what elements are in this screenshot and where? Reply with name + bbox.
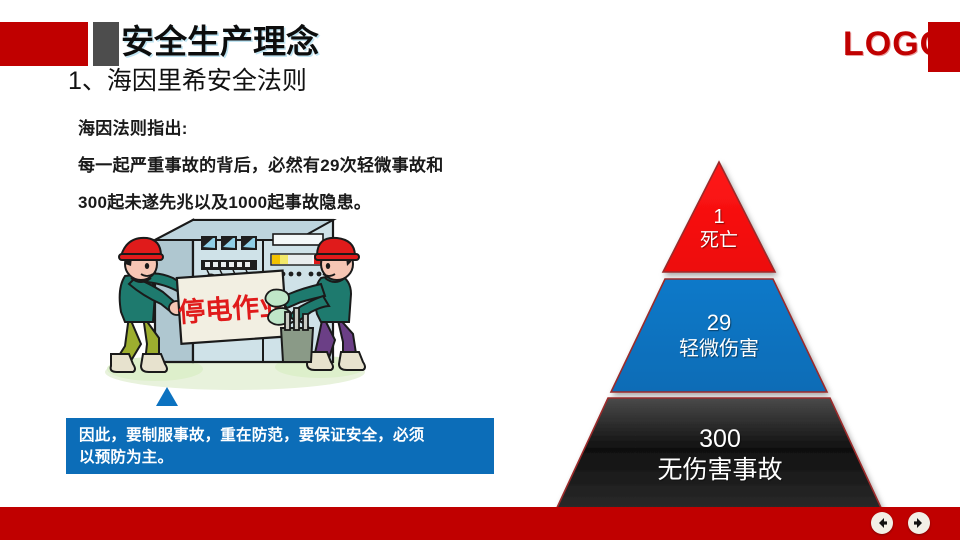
- next-slide-button[interactable]: [908, 512, 930, 534]
- callout-line-2: 以预防为主。: [79, 447, 481, 469]
- footer-bar: [0, 507, 960, 540]
- conclusion-callout: 因此，要制服事故，重在防范，要保证安全，必须 以预防为主。: [66, 418, 494, 474]
- callout-pointer-triangle: [156, 387, 178, 406]
- next-arrow-icon: [912, 516, 926, 530]
- slide-canvas: 安全生产理念 LOGO 1、海因里希安全法则 海因法则指出: 每一起严重事故的背…: [0, 0, 960, 540]
- header-red-accent-block: [0, 22, 88, 66]
- heinrich-pyramid-diagram: [540, 155, 905, 520]
- pyramid-tier-middle: [611, 279, 827, 392]
- body-paragraph: 海因法则指出: 每一起严重事故的背后，必然有29次轻微事故和 300起未遂先兆以…: [78, 110, 548, 221]
- body-line-2: 每一起严重事故的背后，必然有29次轻微事故和: [78, 147, 548, 184]
- pyramid-tier-bottom: [555, 398, 883, 512]
- workers-cabinet-illustration: 停电作业: [85, 212, 375, 392]
- pyramid-tier-top: [663, 162, 775, 272]
- logo-red-block: [928, 22, 960, 72]
- header-gray-accent-block: [93, 22, 119, 66]
- prev-arrow-icon: [875, 516, 889, 530]
- page-title: 安全生产理念: [121, 20, 319, 64]
- body-line-1: 海因法则指出:: [78, 110, 548, 147]
- callout-line-1: 因此，要制服事故，重在防范，要保证安全，必须: [79, 425, 481, 447]
- prev-slide-button[interactable]: [871, 512, 893, 534]
- section-subtitle: 1、海因里希安全法则: [68, 64, 307, 98]
